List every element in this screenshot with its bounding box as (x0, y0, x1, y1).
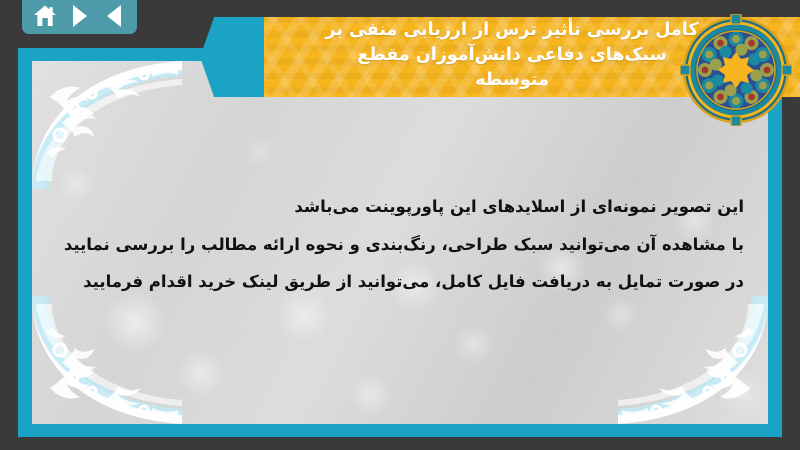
home-icon (32, 4, 58, 28)
home-button[interactable] (31, 3, 59, 29)
slide-viewer: این تصویر نمونه‌ای از اسلایدهای این پاور… (0, 0, 800, 450)
slide-canvas: این تصویر نمونه‌ای از اسلایدهای این پاور… (18, 48, 782, 437)
body-line-1: این تصویر نمونه‌ای از اسلایدهای این پاور… (44, 188, 744, 226)
body-line-2: با مشاهده آن می‌توانید سبک طراحی، رنگ‌بن… (44, 226, 744, 264)
next-slide-button[interactable] (66, 3, 94, 29)
triangle-right-icon (73, 5, 87, 27)
title-line-2: سبک‌های دفاعی دانش‌آموزان مقطع (357, 43, 667, 68)
body-line-3: در صورت تمایل به دریافت فایل کامل، می‌تو… (44, 263, 744, 301)
title-line-3: متوسطه (475, 68, 549, 93)
title-arrow-tab-icon (200, 17, 264, 97)
previous-slide-button[interactable] (100, 3, 128, 29)
title-line-1: کامل بررسی تأثیر ترس از ارزیابی منفی بر (325, 18, 698, 43)
slide-navigation-bar (22, 0, 137, 34)
slide-body-text: این تصویر نمونه‌ای از اسلایدهای این پاور… (44, 146, 744, 301)
slide-title-banner: کامل بررسی تأثیر ترس از ارزیابی منفی بر … (200, 17, 800, 99)
page-title: کامل بررسی تأثیر ترس از ارزیابی منفی بر … (262, 17, 762, 97)
triangle-left-icon (107, 5, 121, 27)
